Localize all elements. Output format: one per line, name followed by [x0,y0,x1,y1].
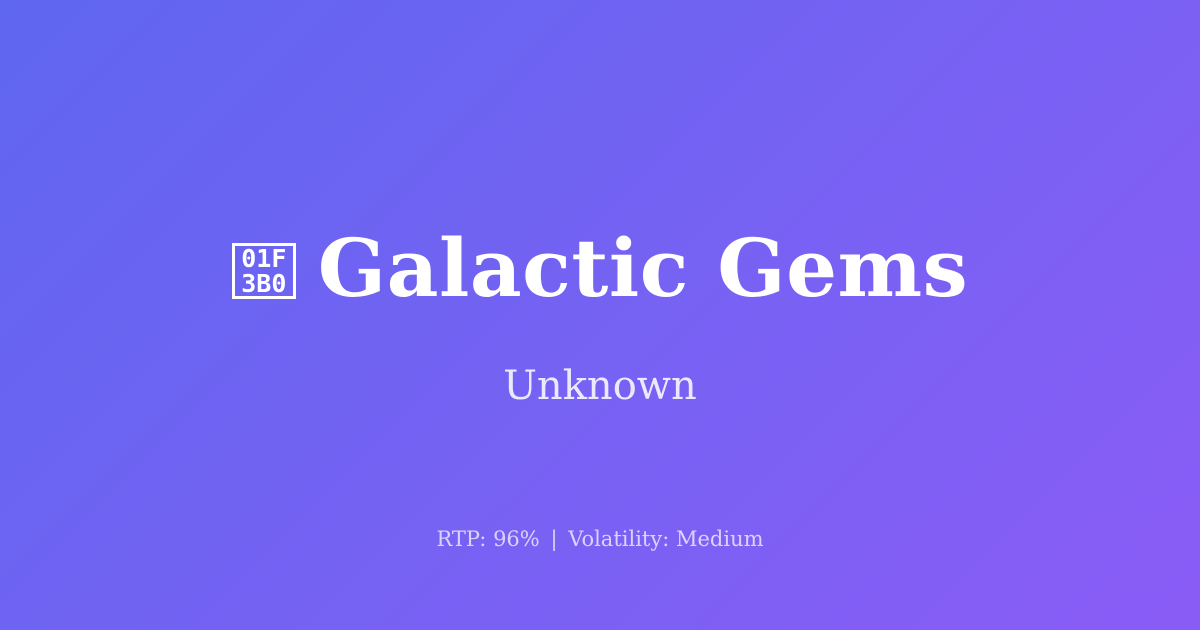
title-row: 01F 3B0 Galactic Gems [0,228,1200,308]
slot-machine-emoji-icon: 01F 3B0 [232,243,296,299]
page-subtitle: Unknown [0,366,1200,406]
volatility-label: Volatility: [568,527,669,551]
game-meta: RTP: 96% | Volatility: Medium [0,529,1200,550]
page-title: Galactic Gems [318,228,968,308]
rtp-value: 96% [493,527,540,551]
meta-separator: | [546,527,561,551]
codepoint-bottom: 3B0 [241,271,286,296]
codepoint-top: 01F [241,246,286,271]
rtp-label: RTP: [436,527,486,551]
game-banner: 01F 3B0 Galactic Gems Unknown RTP: 96% |… [0,0,1200,630]
volatility-value: Medium [676,527,764,551]
